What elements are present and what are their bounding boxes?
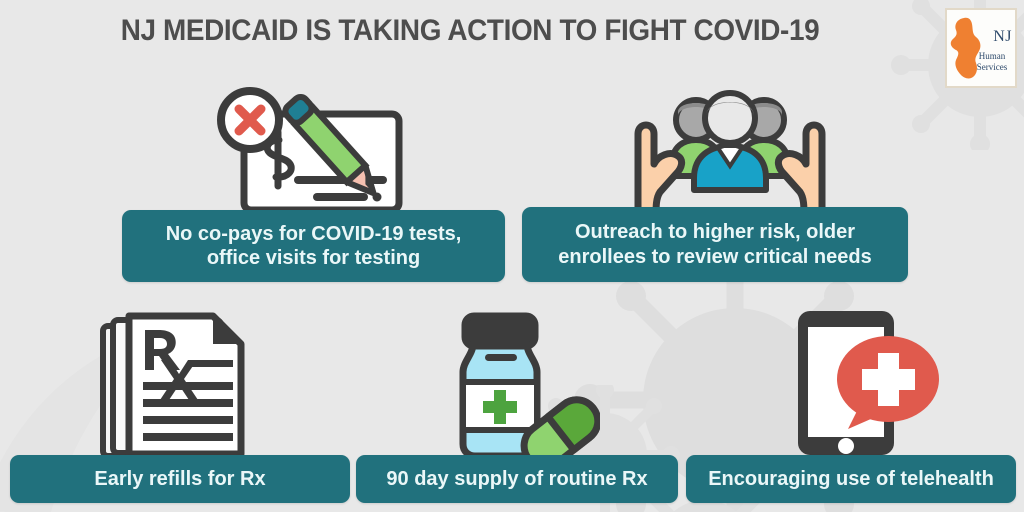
hands-holding-people-icon (630, 72, 830, 217)
banner-outreach-line1: Outreach to higher risk, older (558, 220, 871, 244)
card-banner-refills: Early refills for Rx (10, 455, 350, 503)
banner-outreach-line2: enrollees to review critical needs (558, 245, 871, 269)
banner-copays-line2: office visits for testing (166, 246, 462, 270)
card-banner-telehealth: Encouraging use of telehealth (686, 455, 1016, 503)
infographic-canvas: NJ MEDICAID IS TAKING ACTION TO FIGHT CO… (0, 0, 1024, 512)
card-banner-supply: 90 day supply of routine Rx (356, 455, 678, 503)
logo-subtitle: Human Services (971, 51, 1013, 73)
card-banner-copays: No co-pays for COVID-19 tests, office vi… (122, 210, 505, 282)
logo-subtitle-line1: Human (971, 51, 1013, 62)
nj-human-services-logo: NJ Human Services (945, 8, 1017, 88)
banner-copays-line1: No co-pays for COVID-19 tests, (166, 222, 462, 246)
logo-abbrev: NJ (993, 28, 1012, 46)
medicine-bottle-with-pill-icon (445, 310, 600, 462)
card-banner-outreach: Outreach to higher risk, older enrollees… (522, 207, 908, 282)
check-with-pencil-and-no-symbol-icon (212, 78, 422, 218)
page-title: NJ MEDICAID IS TAKING ACTION TO FIGHT CO… (33, 14, 907, 48)
smartphone-with-medical-chat-bubble-icon (790, 305, 945, 460)
rx-prescription-documents-icon (95, 308, 260, 463)
logo-subtitle-line2: Services (971, 62, 1013, 73)
